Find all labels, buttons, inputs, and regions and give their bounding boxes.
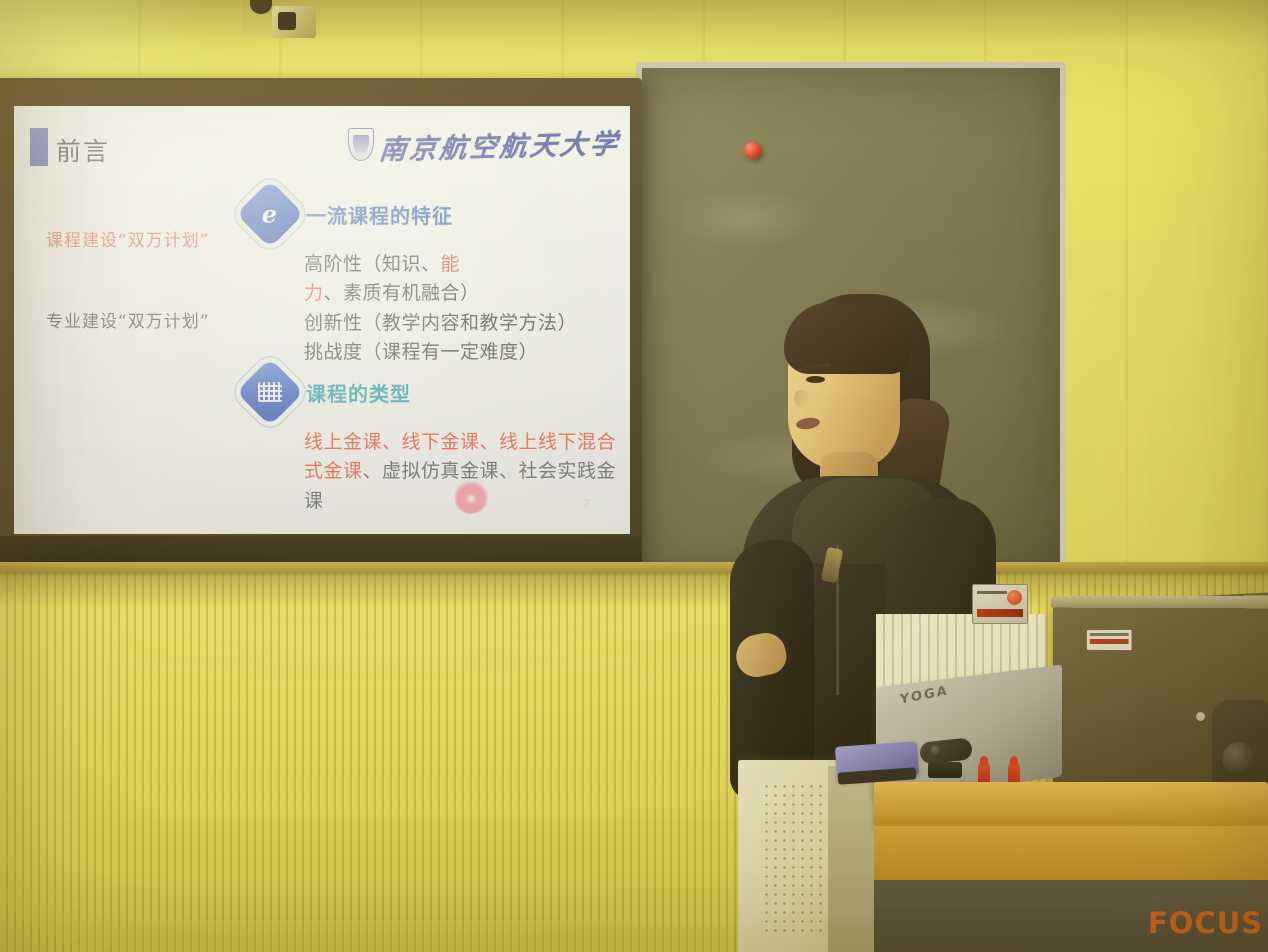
equipment-notice-card bbox=[972, 584, 1028, 624]
webcam-base bbox=[928, 762, 962, 778]
section-header: e 一流课程的特征 bbox=[246, 190, 630, 238]
left-item-1: 课程建设“双万计划” bbox=[46, 226, 266, 251]
section-body-features: 高阶性（知识、能力、素质有机融合） 创新性（教学内容和教学方法） 挑战度（课程有… bbox=[304, 250, 630, 368]
feature-line-2: 创新性（教学内容和教学方法） bbox=[304, 309, 630, 338]
cabinet-side-panel bbox=[828, 766, 880, 952]
webcam-lens-icon bbox=[930, 745, 942, 757]
classroom-photo: CIDI-VISION 前言 南京航空航天大学 课程建设“双万计划” 专业建设“… bbox=[0, 0, 1268, 952]
grid-diamond-icon bbox=[236, 358, 304, 426]
slide-title: 前言 bbox=[56, 132, 110, 168]
eye bbox=[806, 376, 825, 383]
slide-title-accent-bar bbox=[30, 128, 48, 166]
presentation-screen[interactable]: 前言 南京航空航天大学 课程建设“双万计划” 专业建设“双万计划” e 一流课程… bbox=[14, 106, 630, 534]
feature-line-1-post: 、素质有机融合） bbox=[324, 282, 480, 304]
section-heading-features: 一流课程的特征 bbox=[306, 200, 453, 229]
left-item-2: 专业建设“双万计划” bbox=[46, 307, 266, 332]
feature-line-1-pre: 高阶性（知识、 bbox=[304, 253, 441, 275]
red-magnet bbox=[744, 142, 761, 159]
nose bbox=[794, 390, 808, 408]
section-header: 课程的类型 bbox=[246, 368, 630, 416]
university-name: 南京航空航天大学 bbox=[378, 121, 622, 166]
monitor-screw bbox=[1196, 712, 1205, 721]
notice-logo-dot bbox=[1007, 590, 1022, 605]
monitor-asset-label bbox=[1087, 630, 1132, 650]
slide-content: 前言 南京航空航天大学 课程建设“双万计划” 专业建设“双万计划” e 一流课程… bbox=[14, 106, 630, 534]
feature-line-1: 高阶性（知识、能力、素质有机融合） bbox=[304, 250, 630, 309]
monitor-mount-knob bbox=[1222, 742, 1256, 776]
e-diamond-icon: e bbox=[236, 180, 304, 248]
slide-section-features: e 一流课程的特征 高阶性（知识、能力、素质有机融合） 创新性（教学内容和教学方… bbox=[246, 190, 630, 368]
university-logo: 南京航空航天大学 bbox=[348, 122, 620, 166]
feature-line-3: 挑战度（课程有一定难度） bbox=[304, 338, 630, 367]
section-heading-types: 课程的类型 bbox=[306, 378, 411, 407]
grid-glyph bbox=[258, 382, 282, 402]
monitor-top-edge bbox=[1051, 596, 1268, 609]
slide-left-column: 课程建设“双万计划” 专业建设“双万计划” bbox=[46, 226, 266, 388]
bracket-hole bbox=[278, 12, 296, 30]
podium-desktop bbox=[874, 782, 1268, 828]
focus-brand-logo: FOCUS bbox=[1148, 906, 1263, 940]
hair-front bbox=[784, 302, 910, 374]
speaker-grille bbox=[762, 782, 828, 932]
presenter-pointer-dot bbox=[454, 480, 488, 514]
wainscot-cap-rail bbox=[0, 562, 1268, 572]
e-glyph: e bbox=[262, 200, 277, 229]
podium-front-panel bbox=[874, 826, 1268, 882]
university-crest-icon bbox=[348, 128, 374, 161]
